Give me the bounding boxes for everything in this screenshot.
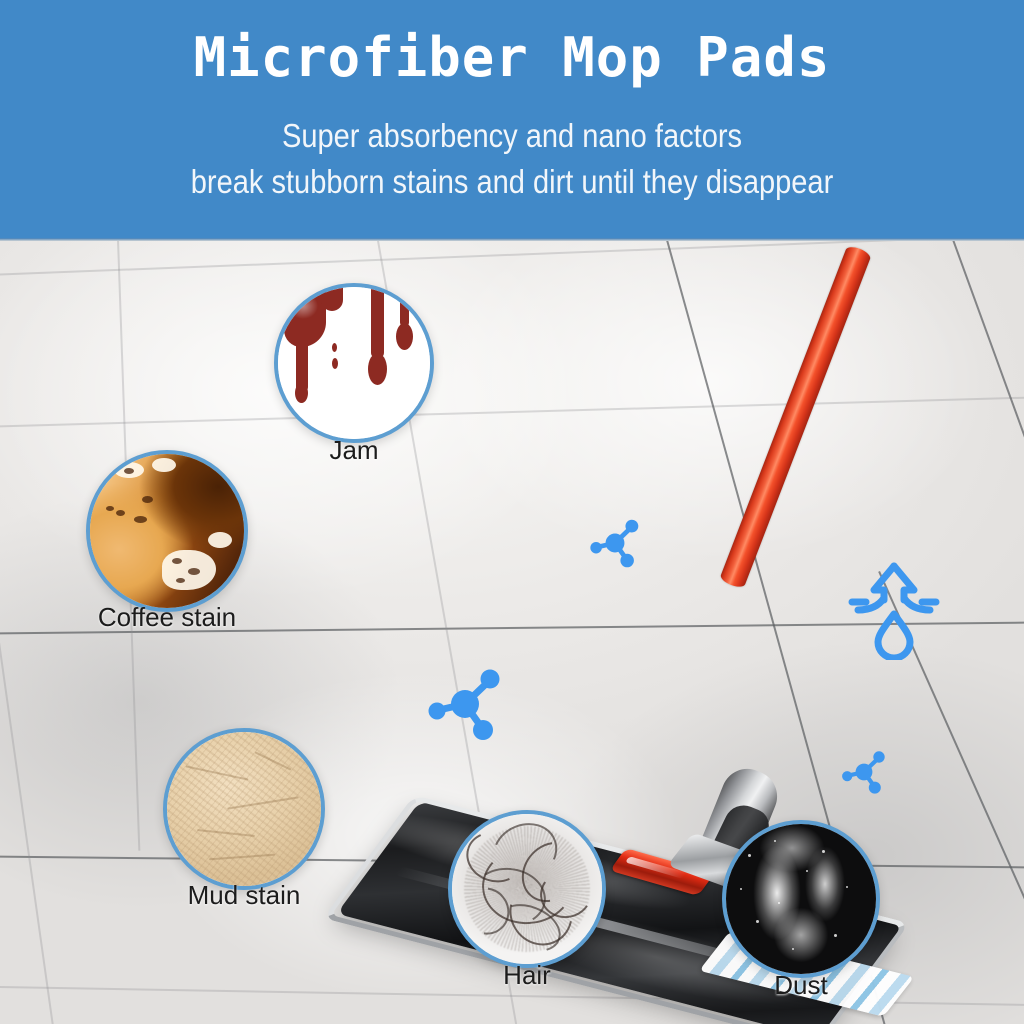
callout-mud-stain[interactable]: Mud stain xyxy=(163,728,325,890)
coffee-stain-circle-image xyxy=(86,450,248,612)
molecule-icon xyxy=(425,664,505,744)
callout-label: Hair xyxy=(503,960,551,991)
jam-circle-image xyxy=(274,283,434,443)
callout-jam[interactable]: Jam xyxy=(274,283,434,443)
hair-circle-image xyxy=(448,810,606,968)
molecule-icon xyxy=(840,748,888,796)
callout-hair[interactable]: Hair xyxy=(448,810,606,968)
mop-handle xyxy=(719,244,872,589)
callout-label: Coffee stain xyxy=(98,602,236,633)
callout-label: Dust xyxy=(774,970,827,1001)
page-title: Microfiber Mop Pads xyxy=(0,28,1024,88)
callout-label: Mud stain xyxy=(188,880,301,911)
dust-circle-image xyxy=(722,820,880,978)
product-infographic: Microfiber Mop Pads Super absorbency and… xyxy=(0,0,1024,1024)
subtitle-line-1: Super absorbency and nano factors xyxy=(61,117,962,155)
header-banner: Microfiber Mop Pads Super absorbency and… xyxy=(0,0,1024,240)
callout-dust[interactable]: Dust xyxy=(722,820,880,978)
callout-label: Jam xyxy=(329,435,378,466)
mud-stain-circle-image xyxy=(163,728,325,890)
molecule-icon xyxy=(588,516,642,570)
absorb-droplet-icon xyxy=(842,556,946,660)
subtitle-line-2: break stubborn stains and dirt until the… xyxy=(61,163,962,201)
callout-coffee-stain[interactable]: Coffee stain xyxy=(86,450,248,612)
